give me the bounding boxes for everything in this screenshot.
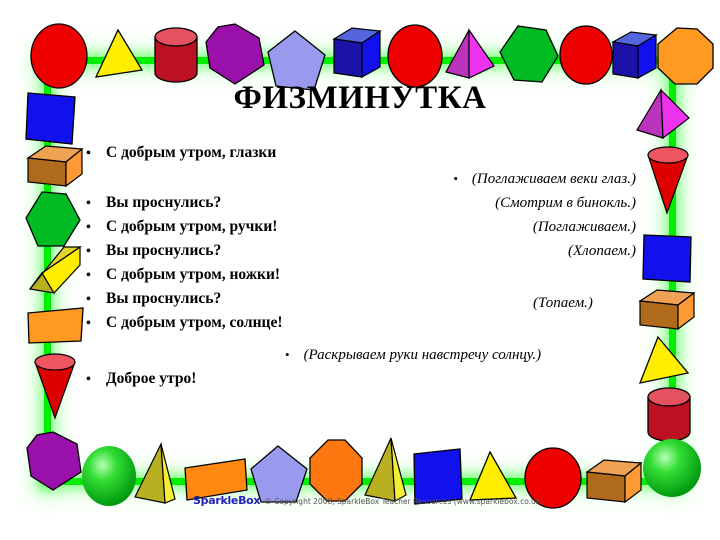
list-item: • Доброе утро! <box>86 371 386 387</box>
bullet-glyph: • <box>86 221 106 235</box>
shape-box-orange-icon <box>636 287 698 335</box>
bullet-glyph: • <box>86 147 106 161</box>
shape-heptagon-purple-icon <box>204 22 266 86</box>
list-item-label: (Поглаживаем.) <box>533 219 636 235</box>
list-item-label: Вы проснулись? <box>106 195 221 211</box>
list-item-label: Вы проснулись? <box>106 291 221 307</box>
shape-cylinder-red-icon <box>150 27 202 85</box>
footer-credit: SparkleBox © Copyright 2008, SparkleBox … <box>193 494 543 507</box>
bullet-glyph: • <box>285 347 290 362</box>
shape-sphere-green-icon <box>80 445 138 507</box>
shape-box-orange-icon <box>24 142 86 192</box>
shape-hexagon-green-icon <box>24 190 82 250</box>
list-item-label: Вы проснулись? <box>106 243 221 259</box>
list-item-label: С добрым утром, ножки! <box>106 267 280 283</box>
action-note-label: (Топаем.) <box>533 295 593 311</box>
list-item: (Хлопаем.) <box>330 244 636 259</box>
shape-triangle-yellow-icon <box>634 335 692 387</box>
list-item-label: С добрым утром, ручки! <box>106 219 277 235</box>
list-item-label: (Хлопаем.) <box>568 243 636 259</box>
shape-square-blue-icon <box>641 232 695 286</box>
bullet-glyph: • <box>86 317 106 331</box>
action-note-sun: •(Раскрываем руки навстречу солнцу.) <box>285 348 541 363</box>
shape-circle-red-icon <box>558 24 614 88</box>
shape-octagon-orange-icon <box>655 26 717 88</box>
shape-cylinder-red-icon <box>643 388 695 444</box>
list-item-label: С добрым утром, солнце! <box>106 315 283 331</box>
shape-hexagon-green-icon <box>498 24 560 86</box>
right-action-column: •(Поглаживаем веки глаз.) (Смотрим в бин… <box>330 172 636 259</box>
list-item-label: С добрым утром, глазки <box>106 145 276 161</box>
bullet-glyph: • <box>86 269 106 283</box>
bullet-glyph: • <box>86 293 106 307</box>
list-item-label: Доброе утро! <box>106 371 196 387</box>
bullet-glyph: • <box>453 171 458 186</box>
shape-cube-blue-icon <box>328 25 384 83</box>
shape-cone-red-icon <box>31 352 79 422</box>
list-item-label: (Поглаживаем веки глаз.) <box>472 171 636 187</box>
list-item: (Смотрим в бинокль.) <box>330 196 636 211</box>
sparklebox-logo: SparkleBox <box>193 494 260 507</box>
shape-pyramid-magenta-icon <box>442 28 498 82</box>
shape-heptagon-purple-icon <box>25 430 83 492</box>
shape-box-orange-icon <box>583 456 645 508</box>
bullet-glyph: • <box>86 373 106 387</box>
shape-rectangle-orange-icon <box>26 305 86 347</box>
shape-pyramid-olive-icon <box>131 441 189 507</box>
list-item: • С добрым утром, глазки <box>86 145 386 161</box>
list-item: • С добрым утром, солнце! <box>86 315 386 331</box>
copyright-text: © Copyright 2008, SparkleBox Teacher Res… <box>264 497 543 506</box>
bullet-glyph: • <box>86 245 106 259</box>
slide-canvas: ФИЗМИНУТКА • С добрым утром, глазки • Вы… <box>0 0 720 540</box>
list-item-label: (Смотрим в бинокль.) <box>495 195 636 211</box>
shape-triangle-yellow-icon <box>92 28 146 80</box>
shape-cone-red-icon <box>644 145 692 217</box>
shape-cube-blue-icon <box>608 30 660 84</box>
list-item: • С добрым утром, ножки! <box>86 267 386 283</box>
list-item: (Поглаживаем.) <box>330 220 636 235</box>
list-item: •(Поглаживаем веки глаз.) <box>330 172 636 187</box>
list-item: • Вы проснулись? <box>86 291 386 307</box>
shape-sphere-green-icon <box>641 437 703 499</box>
action-note-topaem: (Топаем.) <box>533 296 593 311</box>
action-note-label: (Раскрываем руки навстречу солнцу.) <box>304 347 542 363</box>
bullet-glyph: • <box>86 197 106 211</box>
shape-prism-yellow-icon <box>26 245 84 297</box>
page-title: ФИЗМИНУТКА <box>0 82 720 115</box>
